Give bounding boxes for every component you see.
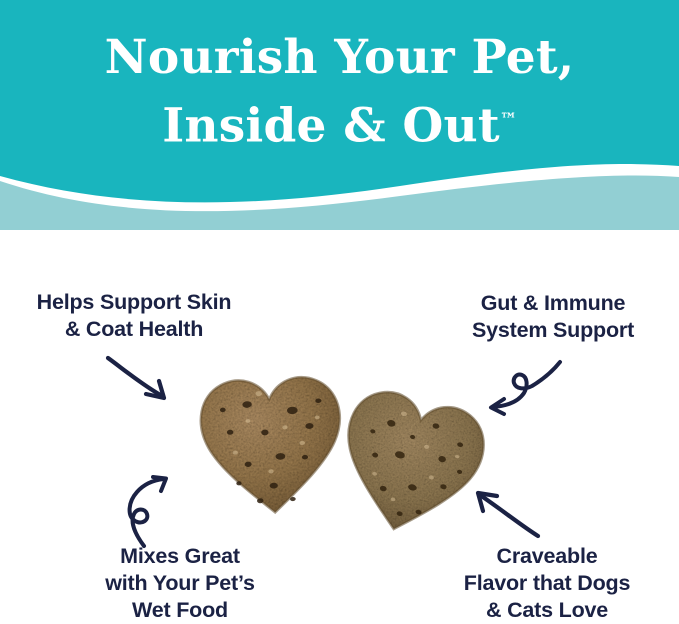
product-image-heart-treats (180, 348, 500, 558)
feature-label-line: Flavor that Dogs (418, 570, 676, 597)
feature-label-skin-coat: Helps Support Skin & Coat Health (8, 289, 260, 343)
heart-treat-right (328, 384, 492, 545)
banner-title-line1: Nourish Your Pet, (105, 30, 575, 85)
trademark-symbol: ™ (500, 110, 517, 130)
banner-title-line2: Inside & Out™ (0, 89, 679, 158)
feature-label-line: Helps Support Skin (8, 289, 260, 316)
feature-label-line: & Coat Health (8, 316, 260, 343)
feature-label-gut-immune: Gut & Immune System Support (434, 290, 672, 344)
promo-graphic: Nourish Your Pet, Inside & Out™ Helps Su… (0, 0, 679, 624)
feature-label-line: with Your Pet’s (48, 570, 312, 597)
header-banner: Nourish Your Pet, Inside & Out™ (0, 0, 679, 230)
banner-title: Nourish Your Pet, Inside & Out™ (0, 26, 679, 158)
banner-title-line2-text: Inside & Out (162, 99, 500, 154)
curved-arrow-down-right-icon (104, 352, 184, 412)
feature-label-line: Wet Food (48, 597, 312, 624)
feature-label-line: & Cats Love (418, 597, 676, 624)
heart-treat-left (199, 375, 345, 516)
feature-label-line: Gut & Immune (434, 290, 672, 317)
feature-label-line: System Support (434, 317, 672, 344)
